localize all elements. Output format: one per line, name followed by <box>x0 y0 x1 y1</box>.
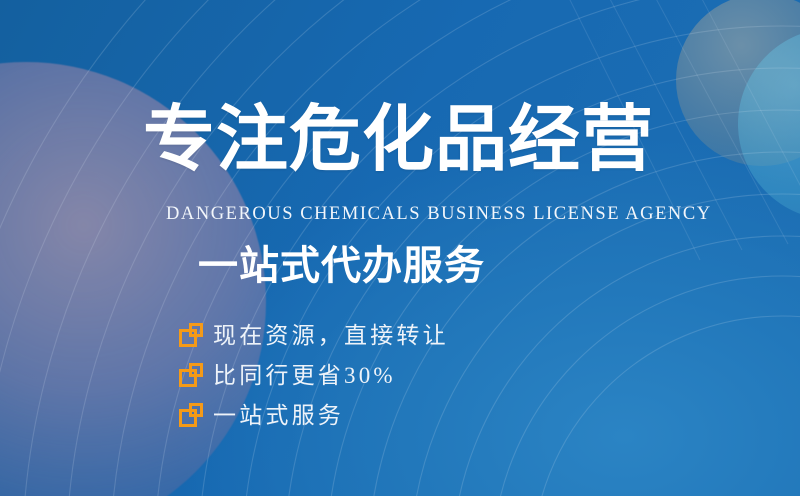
list-item-label: 比同行更省30% <box>213 364 396 387</box>
overlapping-squares-icon <box>179 363 203 387</box>
banner-content: 专注危化品经营 DANGEROUS CHEMICALS BUSINESS LIC… <box>0 0 800 496</box>
subtitle-english: DANGEROUS CHEMICALS BUSINESS LICENSE AGE… <box>166 205 712 224</box>
overlapping-squares-icon <box>179 403 203 427</box>
headline-chinese: 专注危化品经营 <box>143 104 654 176</box>
promotional-banner: 专注危化品经营 DANGEROUS CHEMICALS BUSINESS LIC… <box>0 0 800 496</box>
list-item-label: 一站式服务 <box>213 404 344 427</box>
feature-list: 现在资源，直接转让 比同行更省30% 一站式服务 <box>179 316 449 436</box>
list-item-label: 现在资源，直接转让 <box>213 324 449 347</box>
list-item: 现在资源，直接转让 <box>179 316 449 354</box>
list-item: 比同行更省30% <box>179 356 449 394</box>
list-item: 一站式服务 <box>179 396 449 434</box>
subtitle-chinese: 一站式代办服务 <box>198 246 485 286</box>
overlapping-squares-icon <box>179 323 203 347</box>
